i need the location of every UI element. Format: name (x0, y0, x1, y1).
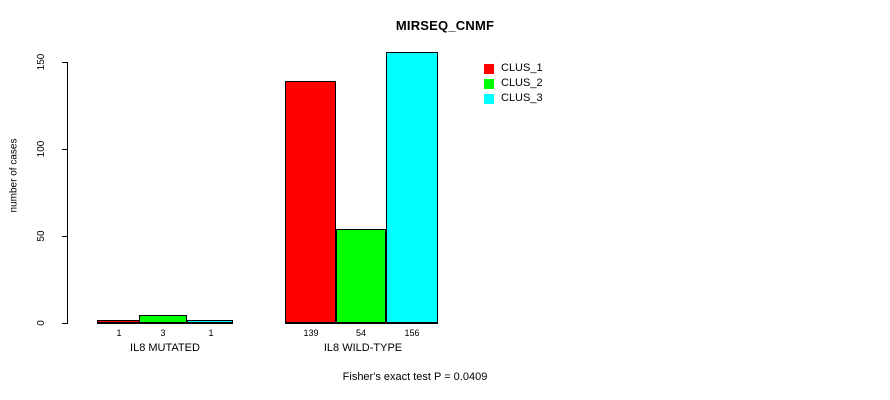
legend-swatch-clus3-icon (484, 94, 494, 104)
y-axis-tick-150 (62, 62, 68, 63)
y-axis-tick-50 (62, 236, 68, 237)
bar-mutated-clus1[interactable] (97, 320, 143, 323)
bar-value-mutated-clus3: 1 (187, 329, 235, 338)
bar-value-wildtype-clus2: 54 (336, 329, 386, 338)
legend-label-clus3: CLUS_3 (501, 92, 543, 105)
bar-value-mutated-clus2: 3 (139, 329, 187, 338)
y-axis-tick-0 (62, 323, 68, 324)
bar-value-mutated-clus1: 1 (95, 329, 143, 338)
group-label-wildtype: IL8 WILD-TYPE (288, 342, 438, 354)
legend-label-clus1: CLUS_1 (501, 62, 543, 75)
legend-swatch-clus2-icon (484, 79, 494, 89)
plot-area: 150 100 50 0 number of cases 1 3 1 IL8 M… (0, 0, 890, 400)
y-axis-label-0: 0 (37, 318, 47, 328)
bar-mutated-clus3[interactable] (187, 320, 233, 323)
y-axis-title: number of cases (9, 126, 20, 226)
y-axis-line (67, 62, 68, 324)
group-label-mutated: IL8 MUTATED (95, 342, 235, 354)
fisher-test-text: Fisher's exact test P = 0.0409 (0, 371, 830, 383)
y-axis-label-100: 100 (37, 137, 47, 161)
legend-swatch-clus1-icon (484, 64, 494, 74)
statistical-annotation: Fisher's exact test P = 0.0409 (0, 371, 890, 383)
y-axis-label-50: 50 (37, 227, 47, 245)
legend-label-clus2: CLUS_2 (501, 77, 543, 90)
bar-value-wildtype-clus1: 139 (286, 329, 336, 338)
y-axis-label-150: 150 (37, 50, 47, 74)
chart-canvas: MIRSEQ_CNMF 150 100 50 0 number of cases… (0, 0, 890, 400)
y-axis-tick-100 (62, 149, 68, 150)
bar-wildtype-clus2[interactable] (336, 229, 386, 323)
bar-mutated-clus2[interactable] (139, 315, 187, 323)
bar-wildtype-clus3[interactable] (386, 52, 438, 323)
bar-wildtype-clus1[interactable] (285, 81, 336, 323)
bar-value-wildtype-clus3: 156 (386, 329, 438, 338)
